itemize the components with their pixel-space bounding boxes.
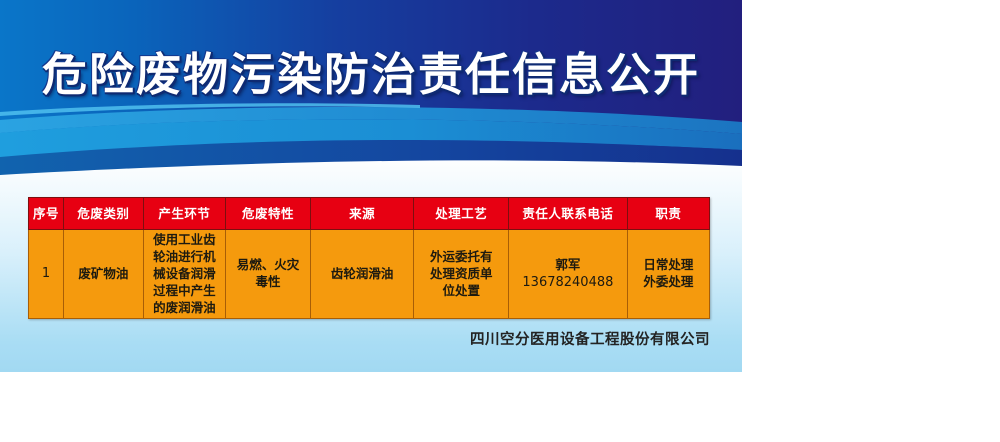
column-header-property: 危废特性 bbox=[226, 198, 311, 230]
process-line-3: 位处置 bbox=[417, 283, 505, 300]
column-header-source: 来源 bbox=[310, 198, 414, 230]
column-header-contact-phone: 责任人联系电话 bbox=[509, 198, 627, 230]
column-header-category: 危废类别 bbox=[63, 198, 143, 230]
process-line-1: 外运委托有 bbox=[417, 249, 505, 266]
cell-generation-link: 使用工业齿 轮油进行机 械设备润滑 过程中产生 的废润滑油 bbox=[143, 230, 225, 319]
information-disclosure-poster: 危险废物污染防治责任信息公开 序号 危废类别 产生环节 危废特性 来源 处理工艺… bbox=[0, 0, 742, 372]
contact-person-name: 郭军 bbox=[512, 257, 623, 274]
company-name: 四川空分医用设备工程股份有限公司 bbox=[0, 328, 710, 349]
generation-link-line-3: 械设备润滑 bbox=[147, 266, 222, 283]
cell-process: 外运委托有 处理资质单 位处置 bbox=[414, 230, 509, 319]
generation-link-line-5: 的废润滑油 bbox=[147, 300, 222, 317]
cell-category: 废矿物油 bbox=[63, 230, 143, 319]
cell-contact: 郭军 13678240488 bbox=[509, 230, 627, 319]
column-header-serial: 序号 bbox=[29, 198, 64, 230]
table-header-row: 序号 危废类别 产生环节 危废特性 来源 处理工艺 责任人联系电话 职责 bbox=[29, 198, 710, 230]
cell-serial: 1 bbox=[29, 230, 64, 319]
hazardous-waste-table: 序号 危废类别 产生环节 危废特性 来源 处理工艺 责任人联系电话 职责 1 废… bbox=[28, 197, 710, 319]
table-row: 1 废矿物油 使用工业齿 轮油进行机 械设备润滑 过程中产生 的废润滑油 易燃、… bbox=[29, 230, 710, 319]
duty-line-2: 外委处理 bbox=[631, 274, 706, 291]
column-header-duty: 职责 bbox=[627, 198, 709, 230]
column-header-process: 处理工艺 bbox=[414, 198, 509, 230]
process-line-2: 处理资质单 bbox=[417, 266, 505, 283]
column-header-generation-link: 产生环节 bbox=[143, 198, 225, 230]
cell-source: 齿轮润滑油 bbox=[310, 230, 414, 319]
property-line-1: 易燃、火灾 bbox=[229, 257, 307, 274]
cell-property: 易燃、火灾 毒性 bbox=[226, 230, 311, 319]
page-title: 危险废物污染防治责任信息公开 bbox=[0, 52, 742, 97]
duty-line-1: 日常处理 bbox=[631, 257, 706, 274]
contact-person-phone: 13678240488 bbox=[512, 274, 623, 292]
generation-link-line-1: 使用工业齿 bbox=[147, 232, 222, 249]
cell-duty: 日常处理 外委处理 bbox=[627, 230, 709, 319]
generation-link-line-2: 轮油进行机 bbox=[147, 249, 222, 266]
generation-link-line-4: 过程中产生 bbox=[147, 283, 222, 300]
property-line-2: 毒性 bbox=[229, 274, 307, 291]
